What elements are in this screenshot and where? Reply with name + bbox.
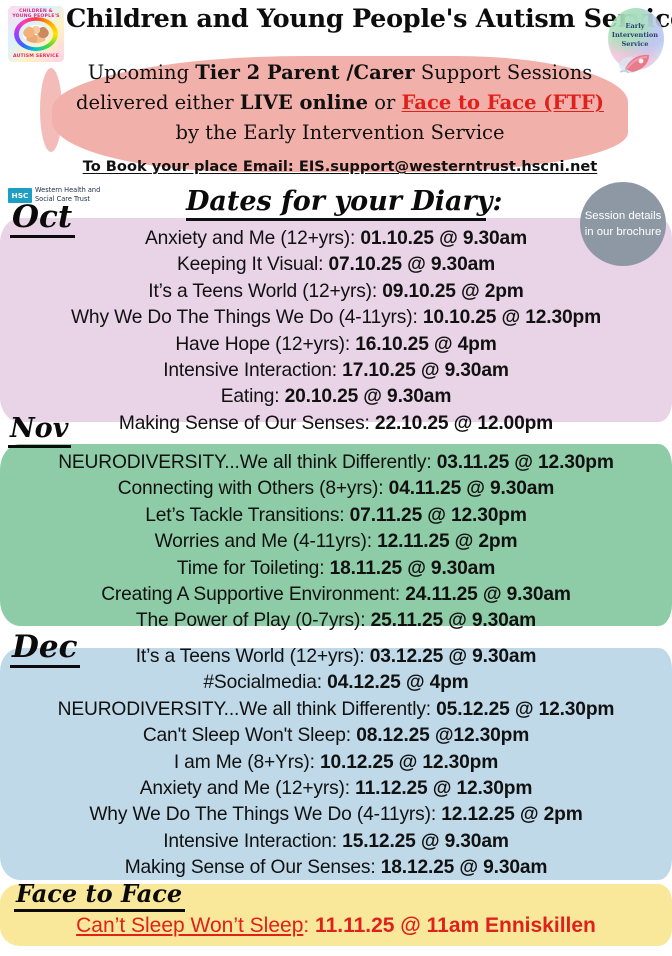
- intro-line-1: Upcoming Tier 2 Parent /Carer Support Se…: [52, 58, 628, 88]
- diary-heading: Dates for your Diary:: [186, 186, 486, 221]
- ftf-session-title: Can’t Sleep Won’t Sleep: [76, 914, 303, 937]
- session-title: Let’s Tackle Transitions:: [145, 505, 349, 526]
- session-datetime: 24.11.25 @ 9.30am: [405, 584, 571, 605]
- session-datetime: 01.10.25 @ 9.30am: [360, 228, 527, 249]
- session-line: Eating: 20.10.25 @ 9.30am: [0, 384, 672, 410]
- poster-root: CHILDREN & YOUNG PEOPLE'S AUTISM SERVICE…: [0, 0, 672, 956]
- session-title: NEURODIVERSITY...We all think Differentl…: [58, 452, 437, 473]
- session-datetime: 16.10.25 @ 4pm: [355, 334, 496, 355]
- session-datetime: 10.10.25 @ 12.30pm: [423, 307, 601, 328]
- session-datetime: 25.11.25 @ 9.30am: [371, 610, 537, 631]
- session-datetime: 04.12.25 @ 4pm: [327, 672, 468, 693]
- session-line: Anxiety and Me (12+yrs): 01.10.25 @ 9.30…: [0, 226, 672, 252]
- session-title: Have Hope (12+yrs):: [175, 334, 355, 355]
- session-line: Connecting with Others (8+yrs): 04.11.25…: [0, 476, 672, 502]
- month-tag-nov: Nov: [8, 414, 71, 448]
- month-tag-dec: Dec: [10, 630, 80, 668]
- session-line: #Socialmedia: 04.12.25 @ 4pm: [0, 670, 672, 696]
- session-line: Intensive Interaction: 17.10.25 @ 9.30am: [0, 358, 672, 384]
- eis-logo-text: Early Intervention Service: [602, 22, 668, 49]
- session-line: The Power of Play (0-7yrs): 25.11.25 @ 9…: [0, 608, 672, 634]
- children-young-peoples-autism-service-logo: CHILDREN & YOUNG PEOPLE'S AUTISM SERVICE: [8, 6, 64, 62]
- session-title: Worries and Me (4-11yrs):: [155, 531, 378, 552]
- session-datetime: 07.11.25 @ 12.30pm: [350, 505, 527, 526]
- intro-2a: delivered either: [76, 91, 240, 114]
- ftf-colon: :: [303, 914, 315, 937]
- session-line: Keeping It Visual: 07.10.25 @ 9.30am: [0, 252, 672, 278]
- session-details-badge: Session details in our brochure: [580, 182, 666, 266]
- session-title: The Power of Play (0-7yrs):: [136, 610, 371, 631]
- session-title: Why We Do The Things We Do (4-11yrs):: [71, 307, 423, 328]
- intro-line-3: by the Early Intervention Service: [52, 118, 628, 148]
- session-title: Making Sense of Our Senses:: [125, 857, 381, 878]
- session-line: Time for Toileting: 18.11.25 @ 9.30am: [0, 556, 672, 582]
- session-title: I am Me (8+Yrs):: [174, 752, 320, 773]
- session-title: Connecting with Others (8+yrs):: [118, 478, 389, 499]
- session-title: Anxiety and Me (12+yrs):: [140, 778, 355, 799]
- session-title: Creating A Supportive Environment:: [101, 584, 405, 605]
- session-title: It’s a Teens World (12+yrs):: [148, 281, 382, 302]
- session-datetime: 18.11.25 @ 9.30am: [330, 558, 496, 579]
- face-to-face-highlight: Face to Face (FTF): [402, 91, 604, 114]
- session-line: Worries and Me (4-11yrs): 12.11.25 @ 2pm: [0, 529, 672, 555]
- session-datetime: 03.11.25 @ 12.30pm: [437, 452, 614, 473]
- session-datetime: 08.12.25 @12.30pm: [356, 725, 529, 746]
- session-line: Can't Sleep Won't Sleep: 08.12.25 @12.30…: [0, 723, 672, 749]
- session-datetime: 12.11.25 @ 2pm: [377, 531, 517, 552]
- booking-email-line[interactable]: To Book your place Email: EIS.support@we…: [40, 158, 640, 175]
- session-line: Making Sense of Our Senses: 18.12.25 @ 9…: [0, 855, 672, 881]
- ftf-session-when: 11.11.25 @ 11am Enniskillen: [315, 914, 596, 937]
- intro-1c: Support Sessions: [415, 61, 593, 84]
- session-title: Keeping It Visual:: [177, 254, 328, 275]
- intro-line-2: delivered either LIVE online or Face to …: [52, 88, 628, 118]
- session-line: NEURODIVERSITY...We all think Differentl…: [0, 697, 672, 723]
- poster-header: CHILDREN & YOUNG PEOPLE'S AUTISM SERVICE…: [0, 0, 672, 52]
- november-session-list: NEURODIVERSITY...We all think Differentl…: [0, 450, 672, 635]
- october-session-list: Anxiety and Me (12+yrs): 01.10.25 @ 9.30…: [0, 226, 672, 437]
- session-title: NEURODIVERSITY...We all think Differentl…: [58, 699, 437, 720]
- intro-text: Upcoming Tier 2 Parent /Carer Support Se…: [52, 58, 628, 148]
- session-datetime: 15.12.25 @ 9.30am: [342, 831, 509, 852]
- session-datetime: 09.10.25 @ 2pm: [382, 281, 523, 302]
- session-line: Have Hope (12+yrs): 16.10.25 @ 4pm: [0, 332, 672, 358]
- intro-1b: Tier 2 Parent /Carer: [195, 61, 414, 84]
- page-title: Children and Young People's Autism Servi…: [66, 4, 602, 34]
- session-line: Let’s Tackle Transitions: 07.11.25 @ 12.…: [0, 503, 672, 529]
- session-title: It’s a Teens World (12+yrs):: [136, 646, 370, 667]
- session-datetime: 10.12.25 @ 12.30pm: [320, 752, 498, 773]
- session-line: It’s a Teens World (12+yrs): 03.12.25 @ …: [0, 644, 672, 670]
- session-line: Creating A Supportive Environment: 24.11…: [0, 582, 672, 608]
- intro-2b: LIVE online: [240, 91, 368, 114]
- session-title: Time for Toileting:: [177, 558, 330, 579]
- session-datetime: 20.10.25 @ 9.30am: [285, 386, 452, 407]
- session-line: Intensive Interaction: 15.12.25 @ 9.30am: [0, 829, 672, 855]
- session-title: Making Sense of Our Senses:: [119, 413, 375, 434]
- session-title: Intensive Interaction:: [163, 831, 342, 852]
- december-session-list: It’s a Teens World (12+yrs): 03.12.25 @ …: [0, 644, 672, 882]
- session-datetime: 04.11.25 @ 9.30am: [389, 478, 555, 499]
- session-title: Eating:: [221, 386, 285, 407]
- intro-2c: or: [368, 91, 401, 114]
- children-figures-icon: [23, 25, 49, 43]
- session-line: It’s a Teens World (12+yrs): 09.10.25 @ …: [0, 279, 672, 305]
- month-tag-oct: Oct: [10, 200, 75, 238]
- session-datetime: 03.12.25 @ 9.30am: [370, 646, 537, 667]
- session-line: Why We Do The Things We Do (4-11yrs): 12…: [0, 802, 672, 828]
- session-datetime: 05.12.25 @ 12.30pm: [436, 699, 614, 720]
- session-title: Intensive Interaction:: [163, 360, 342, 381]
- session-title: Can't Sleep Won't Sleep:: [143, 725, 356, 746]
- face-to-face-tag: Face to Face: [14, 880, 185, 912]
- session-line: Why We Do The Things We Do (4-11yrs): 10…: [0, 305, 672, 331]
- session-datetime: 17.10.25 @ 9.30am: [342, 360, 509, 381]
- session-title: #Socialmedia:: [203, 672, 327, 693]
- intro-1a: Upcoming: [88, 61, 196, 84]
- session-datetime: 12.12.25 @ 2pm: [441, 804, 582, 825]
- session-datetime: 07.10.25 @ 9.30am: [328, 254, 495, 275]
- face-to-face-session: Can’t Sleep Won’t Sleep: 11.11.25 @ 11am…: [0, 912, 672, 940]
- session-datetime: 22.10.25 @ 12.00pm: [375, 413, 553, 434]
- session-line: Making Sense of Our Senses: 22.10.25 @ 1…: [0, 411, 672, 437]
- session-datetime: 11.12.25 @ 12.30pm: [355, 778, 532, 799]
- session-datetime: 18.12.25 @ 9.30am: [381, 857, 548, 878]
- session-line: NEURODIVERSITY...We all think Differentl…: [0, 450, 672, 476]
- session-line: Anxiety and Me (12+yrs): 11.12.25 @ 12.3…: [0, 776, 672, 802]
- session-line: I am Me (8+Yrs): 10.12.25 @ 12.30pm: [0, 750, 672, 776]
- session-title: Why We Do The Things We Do (4-11yrs):: [89, 804, 441, 825]
- session-title: Anxiety and Me (12+yrs):: [145, 228, 360, 249]
